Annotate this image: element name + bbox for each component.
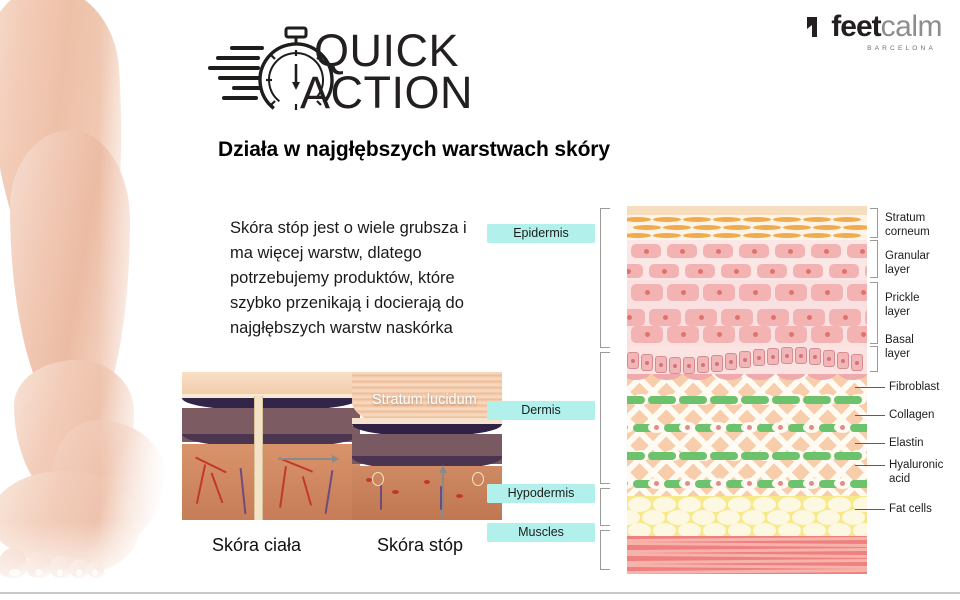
toenail-5 [92,569,98,576]
muscle-fiber [627,553,867,558]
fibroblast-cell [834,422,851,433]
sublayer-label-line1: Granular [885,250,930,264]
stratum-corneum-cell [813,225,841,230]
collagen-fiber [772,396,800,404]
fibroblast-cell [741,422,758,433]
fibroblast-cell [648,478,665,489]
callout-hyaluronic: Hyaluronicacid [889,459,943,486]
callout-elastin: Elastin [889,437,924,451]
collagen-fiber [648,396,676,404]
fibroblast-cell [803,422,820,433]
skin-arrow-vertical-icon [442,472,444,520]
layer-stratum-corneum [627,206,867,240]
layer-basal [627,346,867,374]
dermal-papilla [776,374,806,380]
bracket-epidermis [600,208,610,348]
leader-line [855,415,885,416]
basal-cell [837,352,849,369]
keratinocyte-cell [685,309,717,326]
brand-name-light: calm [881,10,942,44]
quick-action-wordmark: QUICK ACTION [300,26,510,126]
stratum-corneum-cell [627,217,651,222]
collagen-fiber [834,396,862,404]
basal-cell [781,347,793,364]
stratum-corneum-cell [743,217,771,222]
fat-cell [853,523,867,536]
bracket-granular [870,240,878,278]
keratinocyte-cell [627,264,643,278]
bottom-divider [0,592,960,594]
collagen-fiber [834,452,862,460]
keratinocyte-cell [627,309,645,326]
layer-dermis [627,374,867,496]
layer-label-muscles: Muscles [487,523,595,542]
fibroblast-cell [648,422,665,433]
dermal-papilla [807,374,837,380]
keratinocyte-cell [757,309,789,326]
keratinocyte-cell [703,284,735,301]
dermal-papillae [627,374,867,382]
fat-cell [778,523,801,536]
keratinocyte-cell [847,244,867,258]
keratinocyte-cell [631,244,661,258]
keratinocyte-cell [829,309,861,326]
collagen-fiber [772,452,800,460]
brand-name-bold: feet [831,10,880,44]
layer-granular [627,240,867,280]
stratum-corneum-cell [627,233,651,238]
stratum-corneum-cell [743,233,771,238]
fat-cell [653,523,676,536]
skin-arrow-horizontal-icon [278,458,338,460]
keratinocyte-cell [667,326,699,343]
toenail-2 [35,569,43,576]
keratinocyte-cell [775,284,807,301]
keratinocyte-cell [865,264,867,278]
muscle-fiber [627,558,867,563]
dermal-papilla [627,374,651,380]
layer-label-dermis: Dermis [487,401,595,420]
fibroblast-cell [741,478,758,489]
bracket-basal [870,346,878,372]
stratum-corneum-cell [723,225,751,230]
dermal-papilla [714,374,744,380]
basal-cell [697,356,709,373]
collagen-fiber [850,480,867,488]
keratinocyte-cell [667,284,699,301]
fat-cell [678,523,701,536]
stratum-corneum-cell [803,233,831,238]
feetcalm-mark-icon [806,15,828,39]
collagen-fiber [803,396,831,404]
layer-prickle [627,280,867,346]
collagen-fiber [803,452,831,460]
muscle-fiber [627,569,867,574]
bracket-stratum [870,208,878,238]
toenail-4 [76,569,82,576]
sublayer-label-line2: corneum [885,226,930,240]
quick-action-logo: QUICK ACTION [200,8,510,126]
sublayer-label-line1: Stratum [885,212,930,226]
basal-cell [641,354,653,371]
keratinocyte-cell [775,244,805,258]
stratum-corneum-cell [833,233,861,238]
stratum-corneum-cell [683,217,711,222]
callout-label-line2: acid [889,473,943,487]
body-skin-cross-section [182,372,360,520]
foot-leg-photo [0,0,190,592]
keratinocyte-cell [649,264,679,278]
collagen-fiber [850,424,867,432]
keratinocyte-cell [703,326,735,343]
dermal-papilla [745,374,775,380]
collagen-fiber [741,396,769,404]
stratum-corneum-cell [713,217,741,222]
stratum-corneum-cell [803,217,831,222]
leader-line [855,509,885,510]
fibroblast-cell [772,478,789,489]
keratinocyte-cell [775,326,807,343]
callout-granular: Granularlayer [885,250,930,277]
keratinocyte-cell [811,326,843,343]
dermal-papilla [683,374,713,380]
body-paragraph: Skóra stóp jest o wiele grubsza i ma wię… [230,216,480,341]
stratum-corneum-cell [773,233,801,238]
fat-cell [828,523,851,536]
keratinocyte-cell [667,244,697,258]
keratinocyte-cell [757,264,787,278]
layer-label-hypodermis: Hypodermis [487,484,595,503]
keratinocyte-cell [739,326,771,343]
callout-basal: Basallayer [885,334,914,361]
feetcalm-logo: feetcalm BARCELONA [806,10,942,52]
basal-cell [795,347,807,364]
callout-label-line1: Hyaluronic [889,459,943,473]
stratum-corneum-cell [833,217,861,222]
stratum-corneum-cell [653,217,681,222]
keratinocyte-cell [865,309,867,326]
collagen-fiber [679,396,707,404]
basal-cell [711,355,723,372]
fibroblast-cell [679,422,696,433]
callout-collagen: Collagen [889,409,934,423]
keratinocyte-cell [703,244,733,258]
basal-cell [655,356,667,373]
layer-muscles [627,536,867,574]
stratum-corneum-cell [783,225,811,230]
fibroblast-cell [710,478,727,489]
bracket-muscles [600,530,610,570]
page-title: Działa w najgłębszych warstwach skóry [218,138,610,162]
collagen-fiber [710,452,738,460]
collagen-fiber [679,452,707,460]
basal-cell [725,353,737,370]
keratinocyte-cell [793,309,825,326]
sublayer-label-line1: Basal [885,334,914,348]
fibroblast-cell [679,478,696,489]
skin-comparison-photos: Stratum lucidum [182,372,502,520]
layer-hypodermis [627,496,867,536]
callout-stratum: Stratumcorneum [885,212,930,239]
fat-cell [728,523,751,536]
fat-cell [803,523,826,536]
toenail-1 [9,569,21,576]
keratinocyte-cell [685,264,715,278]
dermal-papilla [838,374,867,380]
keratinocyte-cell [847,284,867,301]
fat-cell [628,523,651,536]
stratum-corneum-band [627,206,867,215]
stratum-lucidum-label: Stratum lucidum [372,392,477,408]
keratinocyte-cell [829,264,859,278]
stratum-corneum-cell [843,225,867,230]
fibroblast-cell [710,422,727,433]
logo-word-action: ACTION [300,70,473,116]
keratinocyte-cell [721,309,753,326]
collagen-fiber [648,452,676,460]
toes-group [0,518,126,580]
stratum-corneum-cell [693,225,721,230]
muscle-fiber [627,542,867,547]
stratum-corneum-cell [633,225,661,230]
fibroblast-cell [803,478,820,489]
stratum-corneum-cell [753,225,781,230]
sublayer-label-line1: Prickle [885,292,920,306]
fat-cell [703,523,726,536]
keratinocyte-cell [793,264,823,278]
collagen-fiber [627,452,645,460]
basal-cell [851,354,863,371]
keratinocyte-cell [649,309,681,326]
caption-foot-skin: Skóra stóp [377,535,463,556]
fat-cell [753,523,776,536]
collagen-fiber [627,396,645,404]
feetcalm-wordmark-row: feetcalm [806,10,942,44]
basal-cell [767,348,779,365]
bracket-prickle [870,282,878,344]
dermal-papilla [652,374,682,380]
basal-cell [809,348,821,365]
muscle-fiber [627,548,867,553]
brand-tagline: BARCELONA [806,45,936,52]
bracket-hypodermis [600,488,610,526]
stratum-corneum-cell [653,233,681,238]
leader-line [855,443,885,444]
sublayer-label-line2: layer [885,306,920,320]
stratum-corneum-cell [663,225,691,230]
collagen-fiber [710,396,738,404]
sublayer-label-line2: layer [885,348,914,362]
basal-cell [753,349,765,366]
keratinocyte-cell [739,284,771,301]
sublayer-label-line2: layer [885,264,930,278]
stratum-corneum-cell [683,233,711,238]
skin-layers-diagram: EpidermisDermisHypodermisMusclesStratumc… [627,206,867,546]
layer-label-epidermis: Epidermis [487,224,595,243]
keratinocyte-cell [811,284,843,301]
callout-fibroblast: Fibroblast [889,381,940,395]
leader-line [855,387,885,388]
basal-cell [739,351,751,368]
caption-body-skin: Skóra ciała [212,535,301,556]
keratinocyte-cell [847,326,867,343]
basal-cell [669,357,681,374]
callout-prickle: Pricklelayer [885,292,920,319]
collagen-fiber [741,452,769,460]
keratinocyte-cell [631,284,663,301]
keratinocyte-cell [811,244,841,258]
leader-line [855,465,885,466]
callout-fat-cells: Fat cells [889,503,932,517]
basal-cell [683,357,695,374]
keratinocyte-cell [721,264,751,278]
fibroblast-cell [834,478,851,489]
toenail-3 [57,569,63,576]
keratinocyte-cell [739,244,769,258]
stratum-corneum-cell [773,217,801,222]
keratinocyte-cell [631,326,663,343]
basal-cell [627,352,639,369]
bracket-dermis [600,352,610,484]
fibroblast-cell [772,422,789,433]
stratum-corneum-cell [713,233,741,238]
basal-cell [823,350,835,367]
